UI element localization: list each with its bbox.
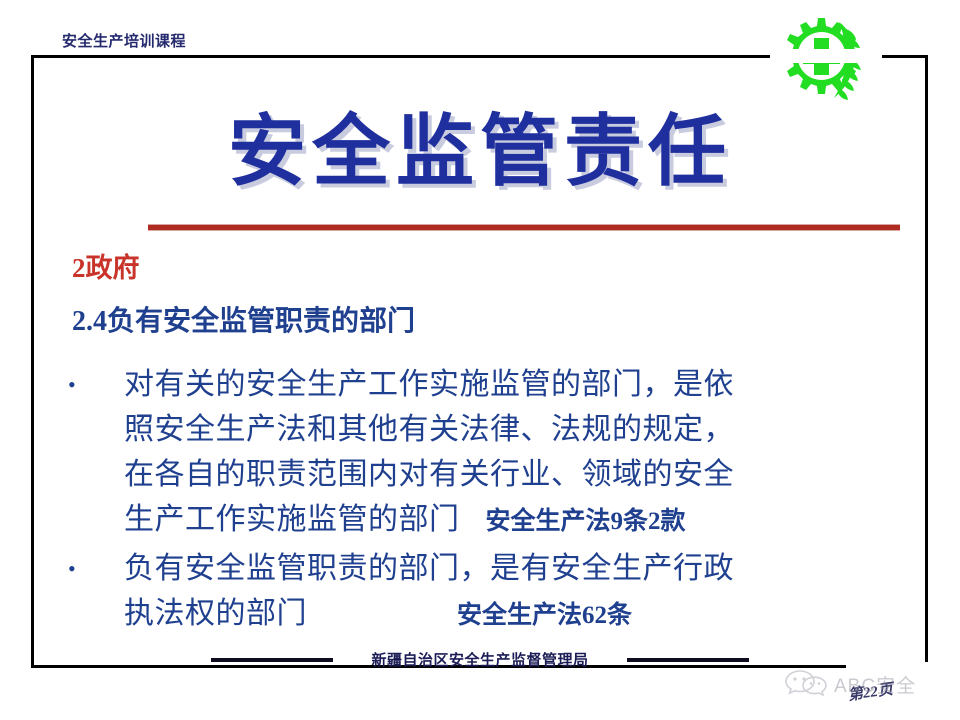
- bullet-text-2: 负有安全监管职责的部门，是有安全生产行政 执法权的部门安全生产法62条: [124, 546, 908, 638]
- footer-rule-left: [211, 658, 333, 662]
- footer-rule-right: [627, 658, 749, 662]
- section-heading: 2政府: [72, 251, 140, 285]
- subsection-heading: 2.4负有安全监管职责的部门: [72, 305, 415, 339]
- bullet-2-line-2-text: 执法权的部门: [124, 597, 307, 630]
- slide-footer: 新疆自治区安全生产监督管理局: [0, 649, 960, 670]
- bullet-1-line-2: 照安全生产法和其他有关法律、法规的规定，: [124, 407, 908, 452]
- slide-body: 2政府 2.4负有安全监管职责的部门 • 对有关的安全生产工作实施监管的部门，是…: [0, 0, 960, 720]
- bullet-2-citation: 安全生产法62条: [457, 602, 632, 629]
- bullet-1-line-4: 生产工作实施监管的部门安全生产法9条2款: [124, 497, 908, 544]
- bullet-item-2: • 负有安全监管职责的部门，是有安全生产行政 执法权的部门安全生产法62条: [68, 546, 908, 638]
- slide-canvas: 安全生产培训课程: [0, 0, 960, 720]
- bullet-1-citation: 安全生产法9条2款: [486, 508, 686, 535]
- bullet-2-line-2: 执法权的部门安全生产法62条: [124, 591, 908, 638]
- bullet-item-1: • 对有关的安全生产工作实施监管的部门，是依 照安全生产法和其他有关法律、法规的…: [68, 362, 908, 544]
- bullet-1-line-1: 对有关的安全生产工作实施监管的部门，是依: [124, 362, 908, 407]
- bullet-2-line-1: 负有安全监管职责的部门，是有安全生产行政: [124, 546, 908, 591]
- footer-organization-label: 新疆自治区安全生产监督管理局: [371, 649, 588, 670]
- bullet-marker-icon: •: [68, 546, 124, 580]
- bullet-1-line-4-text: 生产工作实施监管的部门: [124, 503, 460, 536]
- bullet-1-line-3: 在各自的职责范围内对有关行业、领域的安全: [124, 452, 908, 497]
- bullet-marker-icon: •: [68, 362, 124, 396]
- bullet-text-1: 对有关的安全生产工作实施监管的部门，是依 照安全生产法和其他有关法律、法规的规定…: [124, 362, 908, 544]
